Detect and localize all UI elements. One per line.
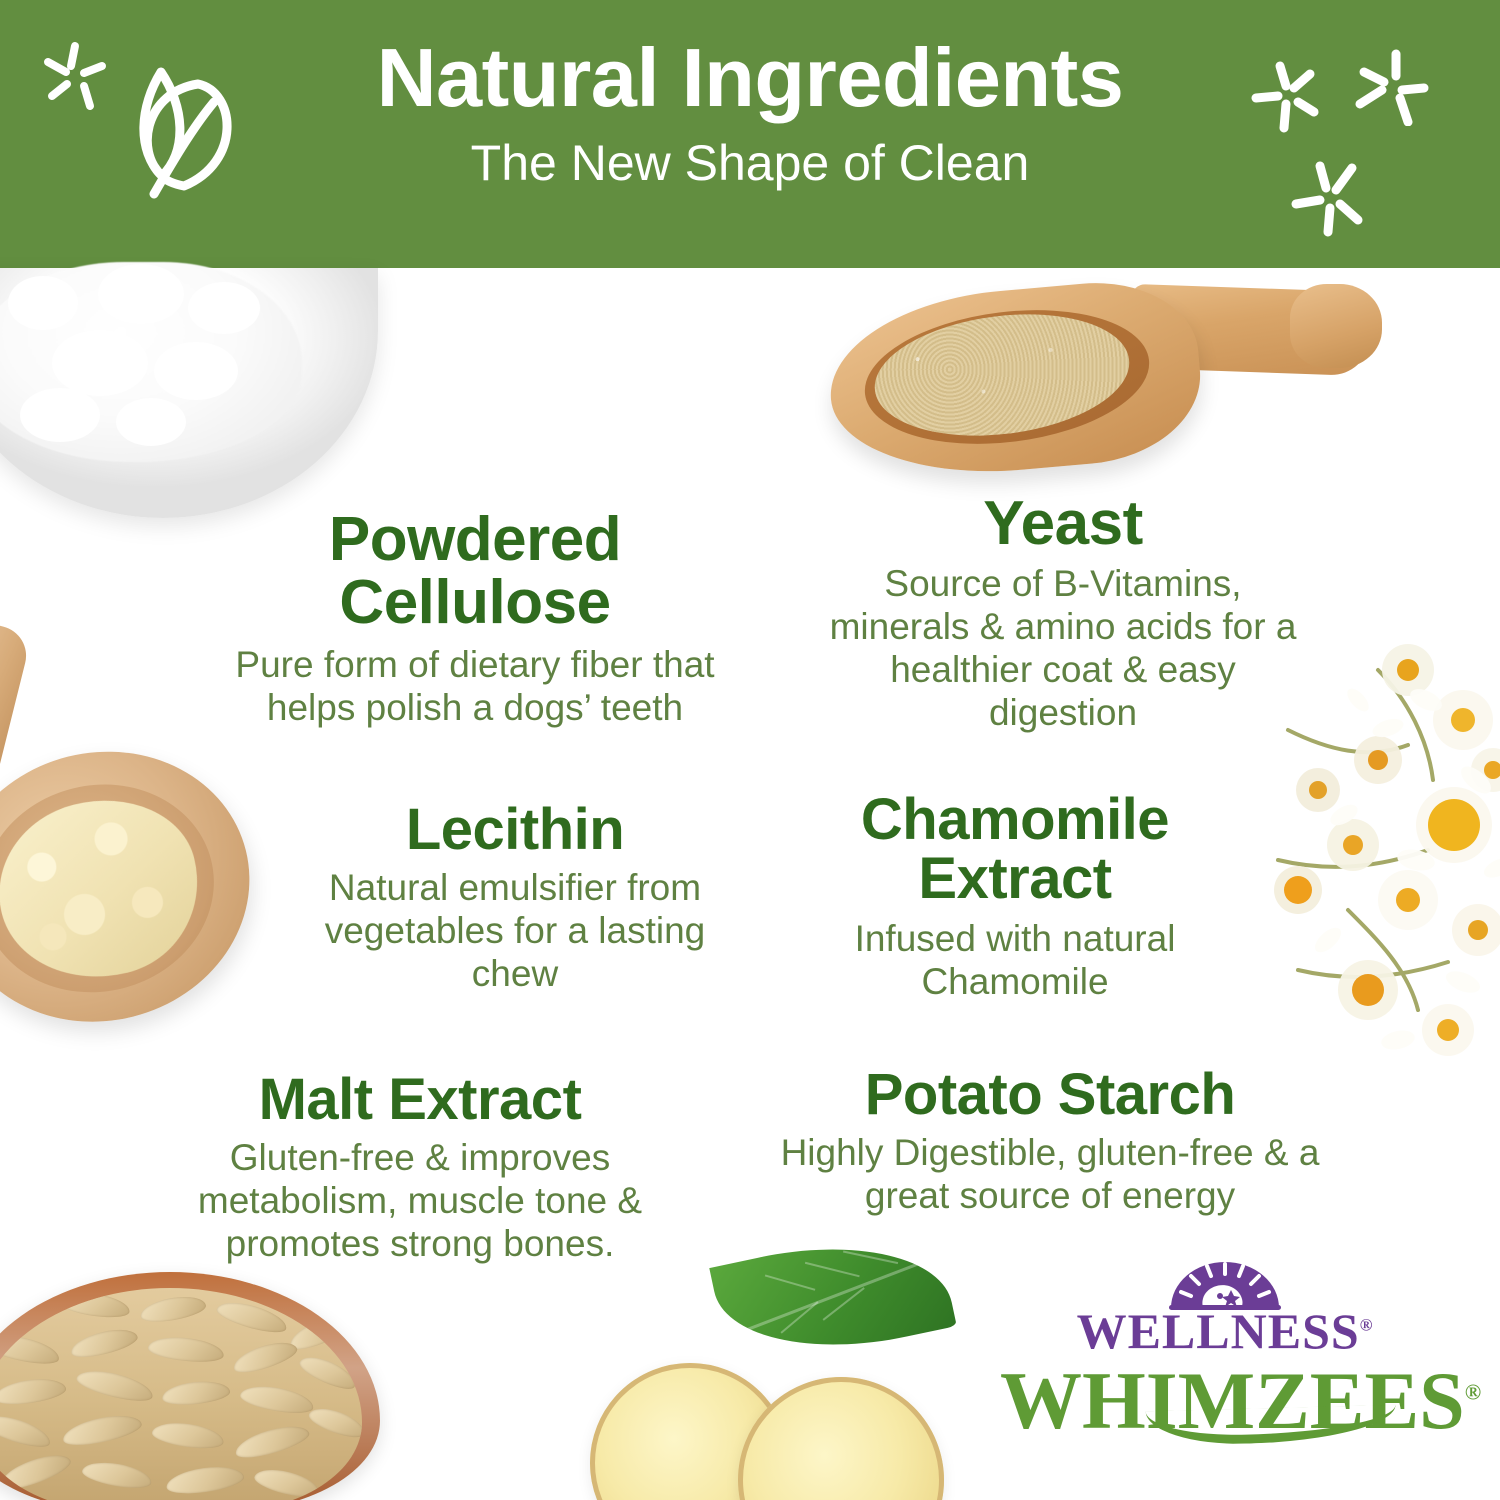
ingredient-description: Natural emulsifier from vegetables for a… — [310, 867, 720, 996]
ingredient-description: Highly Digestible, gluten-free & a great… — [770, 1132, 1330, 1218]
ingredient-description: Gluten-free & improves metabolism, muscl… — [165, 1137, 675, 1266]
potato-leaf-icon — [709, 1220, 956, 1373]
ingredient-chamomile-extract: Chamomile Extract Infused with natural C… — [800, 790, 1230, 1004]
page-subtitle: The New Shape of Clean — [0, 135, 1500, 193]
ingredient-description: Infused with natural Chamomile — [800, 918, 1230, 1004]
page-title: Natural Ingredients — [0, 36, 1500, 121]
sliced-potato-with-leaf-image — [590, 1285, 970, 1500]
brand-logo: WELLNESS® WHIMZEES® — [1000, 1258, 1450, 1473]
header-band: Natural Ingredients The New Shape of Cle… — [0, 0, 1500, 268]
yeast-granules-wooden-scoop-image — [820, 278, 1360, 498]
ingredient-description: Source of B-Vitamins, minerals & amino a… — [818, 563, 1308, 735]
sunburst-dog-emblem-icon — [1000, 1258, 1450, 1308]
white-powder-in-bowl-image — [0, 268, 378, 523]
ingredient-powdered-cellulose: Powdered Cellulose Pure form of dietary … — [200, 508, 750, 730]
ingredient-title: Chamomile Extract — [800, 790, 1230, 908]
barley-grains-terracotta-bowl-image — [0, 1272, 380, 1500]
ingredient-title: Yeast — [818, 492, 1308, 555]
ingredient-title: Powdered Cellulose — [200, 508, 750, 634]
ingredient-malt-extract: Malt Extract Gluten-free & improves meta… — [165, 1070, 675, 1266]
ingredient-yeast: Yeast Source of B-Vitamins, minerals & a… — [818, 492, 1308, 735]
ingredient-title: Potato Starch — [770, 1065, 1330, 1124]
ingredient-lecithin: Lecithin Natural emulsifier from vegetab… — [310, 800, 720, 996]
infographic-page: Natural Ingredients The New Shape of Cle… — [0, 0, 1500, 1500]
ingredient-description: Pure form of dietary fiber that helps po… — [200, 644, 750, 730]
ingredient-potato-starch: Potato Starch Highly Digestible, gluten-… — [770, 1065, 1330, 1218]
logo-wellness-text: WELLNESS® — [1000, 1306, 1450, 1356]
ingredient-title: Lecithin — [310, 800, 720, 859]
ingredient-title: Malt Extract — [165, 1070, 675, 1129]
